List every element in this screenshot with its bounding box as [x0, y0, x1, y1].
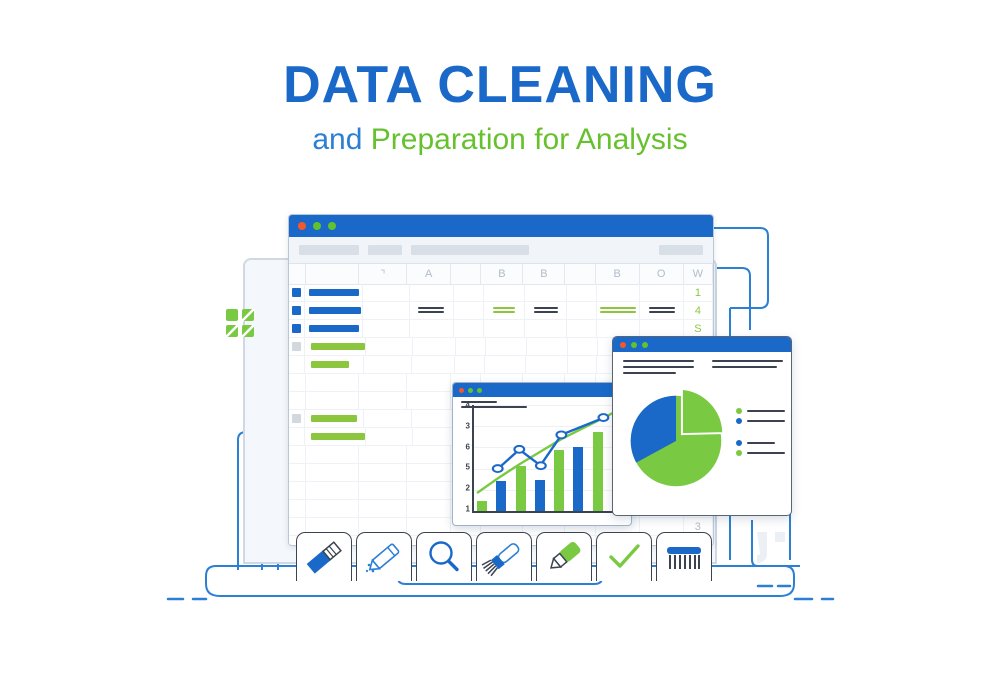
data-point	[514, 446, 524, 453]
data-point	[536, 462, 546, 469]
row-number: S	[694, 323, 701, 335]
bar-chart-window[interactable]: 4 3 6 5 2 1	[452, 382, 632, 526]
y-axis-ticks: 4 3 6 5 2 1	[457, 405, 470, 509]
chart-caption-lines	[461, 401, 527, 411]
legend-item[interactable]	[736, 450, 785, 456]
title-subtitle: and Preparation for Analysis	[0, 123, 1000, 156]
legend-swatch-blue	[736, 418, 742, 424]
comb-icon	[657, 533, 711, 581]
legend-label-line	[747, 420, 785, 422]
comb-tool-button[interactable]	[656, 532, 712, 581]
y-tick: 5	[466, 463, 470, 472]
cell-bar	[309, 289, 359, 296]
pie-chart-titlebar[interactable]	[613, 337, 791, 352]
title-sub-and: and	[312, 123, 370, 156]
col-head-w[interactable]: W	[684, 264, 713, 284]
col-head-corner[interactable]	[289, 264, 306, 284]
data-point	[493, 465, 503, 472]
legend-swatch-blue	[736, 440, 742, 446]
legend-group-2	[736, 440, 785, 456]
row-number: 3	[695, 521, 701, 533]
cell-bar	[311, 343, 365, 350]
toolbar-chip-1[interactable]	[299, 245, 359, 255]
data-point	[557, 431, 567, 438]
page-title: DATA CLEANING and Preparation for Analys…	[0, 58, 1000, 156]
cell-bar	[309, 307, 361, 314]
maximize-icon[interactable]	[328, 222, 336, 230]
magic-pen-tool-button[interactable]	[356, 532, 412, 581]
pie-chart-window[interactable]	[612, 336, 792, 516]
pie-body	[613, 378, 791, 506]
row-marker	[292, 414, 301, 423]
row-number: 4	[695, 305, 701, 317]
maximize-icon[interactable]	[642, 342, 648, 348]
cell-mark-dark	[649, 307, 675, 315]
legend-item[interactable]	[736, 418, 785, 424]
col-head-1[interactable]: ⌝	[359, 264, 407, 284]
legend-item[interactable]	[736, 408, 785, 414]
marker-points	[474, 405, 625, 511]
legend-swatch-green	[736, 408, 742, 414]
search-tool-button[interactable]	[416, 532, 472, 581]
highlighter-tool-button[interactable]	[536, 532, 592, 581]
col-head-a[interactable]: A	[407, 264, 451, 284]
cell-bar	[309, 325, 359, 332]
cell-mark-green	[600, 307, 636, 315]
highlighter-icon	[537, 533, 591, 581]
close-icon[interactable]	[620, 342, 626, 348]
minimize-icon[interactable]	[631, 342, 637, 348]
close-icon[interactable]	[298, 222, 306, 230]
header-lines-left	[623, 360, 694, 378]
legend-label-line	[747, 442, 775, 444]
search-icon	[417, 533, 471, 581]
cell-mark-green	[493, 307, 515, 315]
y-tick: 2	[466, 484, 470, 493]
row-marker	[292, 306, 301, 315]
legend-item[interactable]	[736, 440, 785, 446]
legend-swatch-green	[736, 450, 742, 456]
title-main: DATA CLEANING	[0, 58, 1000, 113]
col-head-b3[interactable]: B	[596, 264, 640, 284]
cell-mark-dark	[418, 307, 444, 315]
plot	[472, 405, 625, 513]
minimize-icon[interactable]	[468, 388, 473, 393]
cell-bar	[311, 433, 365, 440]
watermark-shape	[753, 528, 791, 568]
magic-pen-icon	[357, 533, 411, 581]
pie-slice-exploded	[682, 389, 723, 434]
y-tick: 3	[466, 421, 470, 430]
illustration-canvas: DATA CLEANING and Preparation for Analys…	[0, 0, 1000, 700]
bar-chart-titlebar[interactable]	[453, 383, 631, 397]
row-marker	[292, 342, 301, 351]
title-sub-rest: Preparation for Analysis	[371, 123, 688, 156]
pie-chart	[619, 380, 737, 498]
cleaning-tools-toolbar[interactable]	[296, 532, 712, 581]
table-row[interactable]: 1	[289, 284, 713, 302]
toolbar-chip-4[interactable]	[659, 245, 703, 255]
row-number: 1	[695, 287, 701, 299]
brush-tool-button[interactable]	[476, 532, 532, 581]
y-tick: 1	[466, 505, 470, 514]
minimize-icon[interactable]	[313, 222, 321, 230]
cell-bar	[311, 415, 357, 422]
close-icon[interactable]	[459, 388, 464, 393]
y-tick: 6	[466, 442, 470, 451]
col-head-b1[interactable]: B	[481, 264, 523, 284]
header-lines-right	[712, 360, 783, 378]
col-head-blank1[interactable]	[306, 264, 360, 284]
check-tool-button[interactable]	[596, 532, 652, 581]
legend-label-line	[747, 410, 785, 412]
cell-mark-dark	[534, 307, 558, 315]
legend-group-1	[736, 408, 785, 424]
pie-header-lines	[613, 352, 791, 378]
spreadsheet-titlebar[interactable]	[289, 215, 713, 237]
brush-icon	[477, 533, 531, 581]
toolbar-chip-3[interactable]	[411, 245, 529, 255]
toolbar-chip-2[interactable]	[368, 245, 402, 255]
col-head-blank3[interactable]	[565, 264, 595, 284]
data-point	[599, 414, 609, 421]
four-squares-icon	[226, 309, 254, 337]
spreadsheet-toolbar[interactable]	[289, 237, 713, 264]
col-head-blank2[interactable]	[451, 264, 481, 284]
col-head-b2[interactable]: B	[523, 264, 565, 284]
bar-chart-plot-area: 4 3 6 5 2 1	[453, 397, 631, 525]
column-header-row[interactable]: ⌝ A B B B O W	[289, 264, 713, 285]
row-marker	[292, 324, 301, 333]
col-head-o[interactable]: O	[640, 264, 684, 284]
eraser-icon	[297, 533, 351, 581]
legend-label-line	[747, 452, 785, 454]
table-row[interactable]: 4	[289, 302, 713, 320]
pie-legend	[736, 408, 785, 472]
checkmark-icon	[597, 533, 651, 581]
eraser-tool-button[interactable]	[296, 532, 352, 581]
maximize-icon[interactable]	[477, 388, 482, 393]
row-marker	[292, 288, 301, 297]
cell-bar	[311, 361, 349, 368]
